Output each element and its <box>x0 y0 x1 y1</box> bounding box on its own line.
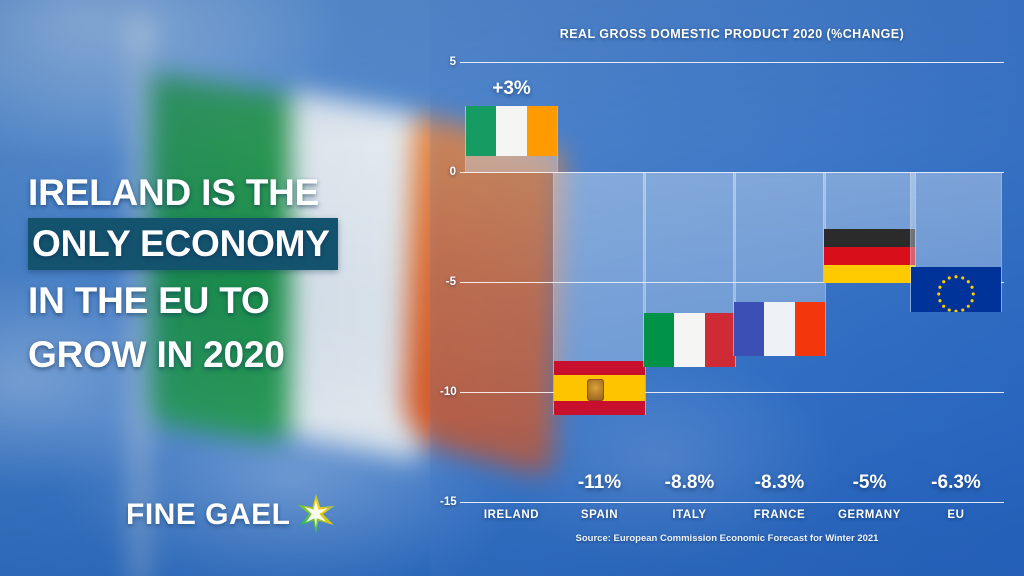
flag-germany <box>824 229 915 283</box>
bar-ireland <box>465 106 558 172</box>
category-label-eu: EU <box>910 509 1002 521</box>
bar-spain <box>553 173 646 415</box>
ytick-label-neg15: -15 <box>440 496 456 508</box>
flag-italy <box>644 313 735 367</box>
category-label-italy: ITALY <box>643 509 736 521</box>
value-label-ireland: +3% <box>465 78 558 100</box>
ytick-label-0: 0 <box>440 166 456 178</box>
headline-line-4: GROW IN 2020 <box>28 326 428 380</box>
value-label-spain: -11% <box>553 472 646 494</box>
eu-stars-icon <box>911 267 1001 312</box>
ytick-label-5: 5 <box>440 56 456 68</box>
fine-gael-logo: FINE GAEL <box>126 495 337 535</box>
category-label-germany: GERMANY <box>823 509 916 521</box>
gridline-neg15 <box>460 502 1004 503</box>
bar-chart: REAL GROSS DOMESTIC PRODUCT 2020 (%CHANG… <box>440 0 1024 576</box>
flag-eu <box>911 267 1001 312</box>
bar-germany <box>823 173 916 283</box>
flag-france <box>734 302 825 356</box>
category-label-ireland: IRELAND <box>465 509 558 521</box>
value-label-france: -8.3% <box>733 472 826 494</box>
category-label-france: FRANCE <box>733 509 826 521</box>
ytick-label-neg5: -5 <box>440 276 456 288</box>
spain-coat-of-arms <box>587 379 604 401</box>
bar-italy <box>643 173 736 367</box>
logo-wordmark: FINE GAEL <box>126 498 291 532</box>
chart-title: REAL GROSS DOMESTIC PRODUCT 2020 (%CHANG… <box>440 27 1024 41</box>
value-label-eu: -6.3% <box>910 472 1002 494</box>
flag-ireland <box>466 106 557 156</box>
category-label-spain: SPAIN <box>553 509 646 521</box>
headline-line-1: IRELAND IS THE <box>28 168 428 218</box>
gridline-neg10 <box>460 392 1004 393</box>
headline-line-3: IN THE EU TO <box>28 270 428 326</box>
source-note: Source: European Commission Economic For… <box>440 533 1024 544</box>
value-label-germany: -5% <box>823 472 916 494</box>
ytick-label-neg10: -10 <box>440 386 456 398</box>
bar-france <box>733 173 826 356</box>
headline: IRELAND IS THE ONLY ECONOMY IN THE EU TO… <box>28 168 428 380</box>
value-label-italy: -8.8% <box>643 472 736 494</box>
gridline-5 <box>460 62 1004 63</box>
flag-spain <box>554 361 645 415</box>
star-icon <box>295 493 337 535</box>
bar-eu <box>910 173 1002 312</box>
headline-line-2-highlighted: ONLY ECONOMY <box>28 218 338 270</box>
